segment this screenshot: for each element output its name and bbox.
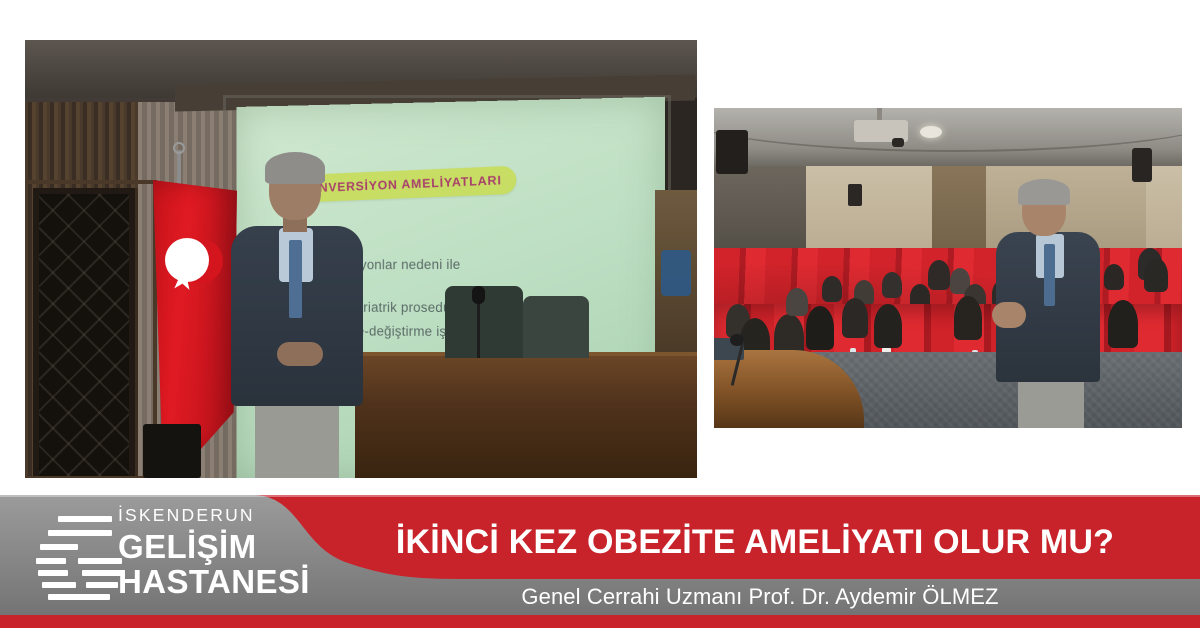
right-photo [714, 108, 1182, 428]
speaker-hands [277, 342, 323, 366]
wall-speaker-mid [848, 184, 862, 206]
hospital-logo-icon [36, 510, 122, 602]
microphone-stem [477, 300, 480, 358]
speaker-tie [1044, 244, 1055, 306]
flag-pole-finial [173, 142, 185, 154]
left-speaker-figure [225, 158, 375, 478]
banner-headline: İKİNCİ KEZ OBEZİTE AMELİYATI OLUR MU? [330, 513, 1180, 571]
wall-speaker-left [716, 130, 748, 174]
ceiling-light-icon [920, 126, 942, 138]
floor-speaker-box [143, 424, 201, 478]
left-photo-scene: KONVERSİYON AMELİYATLARI -Yetersizlik -K… [25, 40, 697, 478]
left-photo: KONVERSİYON AMELİYATLARI -Yetersizlik -K… [25, 40, 697, 478]
speaker-hand [992, 302, 1026, 328]
right-speaker-figure [996, 184, 1116, 428]
banner-subtitle: Genel Cerrahi Uzmanı Prof. Dr. Aydemir Ö… [330, 579, 1190, 615]
poster-canvas: KONVERSİYON AMELİYATLARI -Yetersizlik -K… [0, 0, 1200, 628]
side-banner-badge [661, 250, 691, 296]
banner-bottom-red-strip [0, 615, 1200, 628]
audience-member [786, 288, 808, 316]
logo-line-iskenderun: İSKENDERUN [118, 507, 308, 525]
wall-speaker-right [1132, 148, 1152, 182]
projector-lens [892, 138, 904, 147]
lectern-microphone-icon [730, 334, 744, 346]
audience-member [806, 306, 834, 350]
hospital-wordmark: İSKENDERUN GELİŞİM HASTANESİ [118, 507, 308, 600]
banner-top-hairline [0, 495, 1200, 497]
bottom-banner: İSKENDERUN GELİŞİM HASTANESİ İKİNCİ KEZ … [0, 495, 1200, 628]
audience-member [882, 272, 902, 298]
logo-line-hastanesi: HASTANESİ [118, 564, 308, 600]
logo-line-gelisim: GELİŞİM [118, 529, 308, 565]
audience-member [1144, 258, 1168, 292]
wooden-podium [355, 356, 697, 478]
speaker-legs [1018, 374, 1084, 428]
speaker-legs [255, 398, 339, 478]
chair-right [523, 296, 589, 358]
speaker-hair [1018, 179, 1070, 205]
audience-member [842, 298, 868, 338]
audience-member [954, 296, 982, 340]
speaker-tie [289, 240, 302, 318]
audience-member [874, 304, 902, 348]
audience-member [928, 260, 950, 290]
audience-member [822, 276, 842, 302]
microphone-icon [472, 286, 485, 304]
door-frame [25, 180, 157, 478]
speaker-hair [265, 152, 325, 184]
